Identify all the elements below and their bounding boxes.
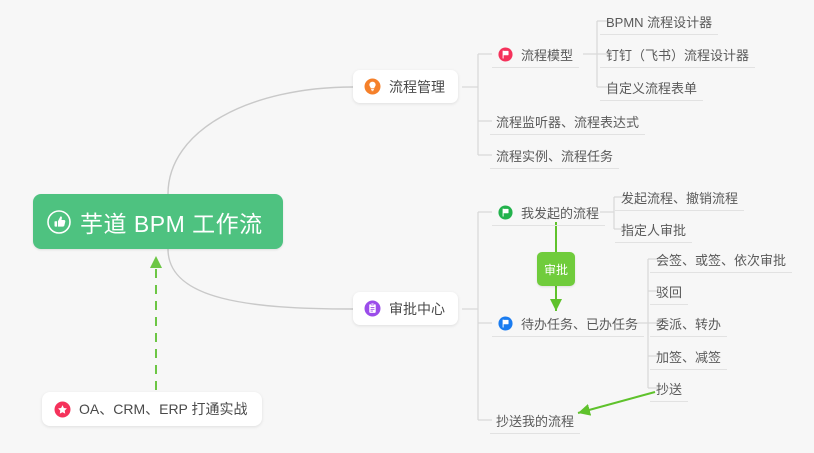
branch-node-process-management[interactable]: 流程管理 (353, 70, 458, 103)
edge-root-to-process-management (168, 87, 353, 194)
mindmap-canvas: 芋道 BPM 工作流 流程管理 流程模型 BPMN 流程设计器 钉钉（飞书）流程… (0, 0, 814, 453)
leaf-bpmn-designer[interactable]: BPMN 流程设计器 (600, 8, 718, 35)
leaf-label-reject: 驳回 (656, 282, 682, 301)
thumbs-up-icon (47, 210, 71, 234)
leaf-delegate-transfer[interactable]: 委派、转办 (650, 310, 727, 337)
node-label-process-model: 流程模型 (521, 45, 573, 64)
leaf-label-cc: 抄送 (656, 379, 682, 398)
leaf-label-custom-form: 自定义流程表单 (606, 78, 697, 97)
branch-label-approval-center: 审批中心 (389, 299, 445, 319)
floating-card-label: OA、CRM、ERP 打通实战 (79, 399, 248, 419)
lightbulb-icon (364, 78, 381, 95)
leaf-label-dingtalk-designer: 钉钉（飞书）流程设计器 (606, 45, 749, 64)
root-node[interactable]: 芋道 BPM 工作流 (33, 194, 283, 249)
cc-arrow (578, 392, 655, 413)
leaf-process-instance[interactable]: 流程实例、流程任务 (490, 142, 619, 169)
leaf-label-add-remove-sign: 加签、减签 (656, 347, 721, 366)
clipboard-icon (364, 300, 381, 317)
leaf-start-cancel-process[interactable]: 发起流程、撤销流程 (615, 184, 744, 211)
node-label-my-started-process: 我发起的流程 (521, 203, 599, 222)
leaf-cc-to-me-process[interactable]: 抄送我的流程 (490, 407, 580, 434)
node-my-started-process[interactable]: 我发起的流程 (492, 199, 605, 226)
leaf-add-remove-sign[interactable]: 加签、减签 (650, 343, 727, 370)
leaf-label-delegate-transfer: 委派、转办 (656, 314, 721, 333)
edge-root-to-approval-center (168, 249, 353, 309)
leaf-label-start-cancel-process: 发起流程、撤销流程 (621, 188, 738, 207)
leaf-reject[interactable]: 驳回 (650, 278, 688, 305)
leaf-dingtalk-designer[interactable]: 钉钉（飞书）流程设计器 (600, 41, 755, 68)
leaf-label-countersign: 会签、或签、依次审批 (656, 250, 786, 269)
branch-node-approval-center[interactable]: 审批中心 (353, 292, 458, 325)
node-process-model[interactable]: 流程模型 (492, 41, 579, 68)
leaf-cc[interactable]: 抄送 (650, 375, 688, 402)
leaf-label-assign-approver: 指定人审批 (621, 220, 686, 239)
leaf-countersign[interactable]: 会签、或签、依次审批 (650, 246, 792, 273)
star-icon (54, 401, 71, 418)
flag-icon-red (498, 47, 513, 62)
flag-icon-green (498, 205, 513, 220)
leaf-custom-form[interactable]: 自定义流程表单 (600, 74, 703, 101)
flag-icon-blue (498, 316, 513, 331)
leaf-label-process-listener: 流程监听器、流程表达式 (496, 112, 639, 131)
root-label: 芋道 BPM 工作流 (80, 205, 263, 239)
leaf-label-cc-to-me-process: 抄送我的流程 (496, 411, 574, 430)
leaf-assign-approver[interactable]: 指定人审批 (615, 216, 692, 243)
branch-label-process-management: 流程管理 (389, 77, 445, 97)
leaf-process-listener[interactable]: 流程监听器、流程表达式 (490, 108, 645, 135)
leaf-label-process-instance: 流程实例、流程任务 (496, 146, 613, 165)
node-todo-done-tasks[interactable]: 待办任务、已办任务 (492, 310, 644, 337)
approval-badge-label: 审批 (544, 261, 568, 278)
approval-badge[interactable]: 审批 (537, 252, 575, 286)
floating-card-integration[interactable]: OA、CRM、ERP 打通实战 (42, 392, 262, 426)
node-label-todo-done-tasks: 待办任务、已办任务 (521, 314, 638, 333)
leaf-label-bpmn-designer: BPMN 流程设计器 (606, 12, 712, 31)
